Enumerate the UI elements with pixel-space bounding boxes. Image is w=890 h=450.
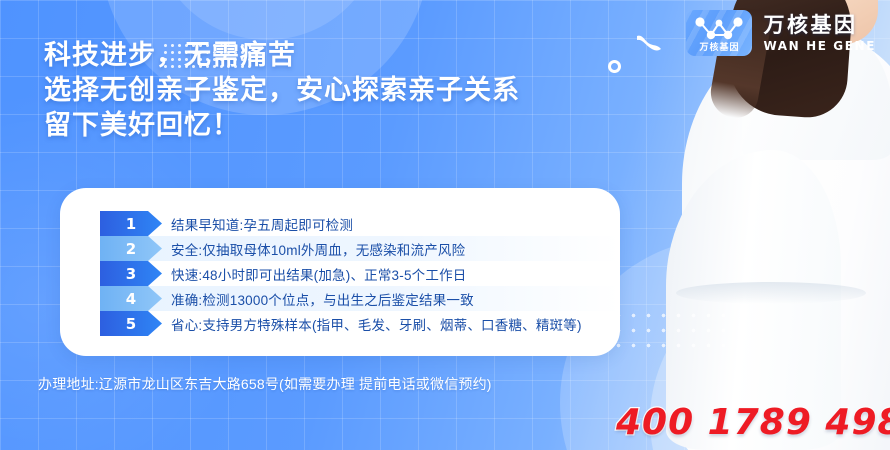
feature-text: 快速:48小时即可出结果(加急)、正常3-5个工作日 [171,264,466,284]
feature-text: 省心:支持男方特殊样本(指甲、毛发、牙刷、烟蒂、口香糖、精斑等) [171,314,582,334]
list-item: 1 结果早知道:孕五周起即可检测 [100,211,620,236]
headline-line-1-wrap: 科技进步，无需痛苦 [44,38,604,73]
pregnant-woman-photo [630,0,890,450]
promo-banner: 万核基因 万核基因 WAN HE GENE 科技进步，无需痛苦 选择无创亲子鉴定… [0,0,890,450]
feature-number-badge: 4 [100,286,162,311]
logo-mark-caption: 万核基因 [686,40,752,53]
feature-card: 1 结果早知道:孕五周起即可检测 2 安全:仅抽取母体10ml外周血，无感染和流… [60,188,620,356]
office-address: 办理地址:辽源市龙山区东吉大路658号(如需要办理 提前电话或微信预约) [38,374,492,394]
photo-waist-shadow [676,282,866,304]
circle-outline-icon [608,60,621,73]
list-item: 5 省心:支持男方特殊样本(指甲、毛发、牙刷、烟蒂、口香糖、精斑等) [100,311,620,336]
feature-number-badge: 5 [100,311,162,336]
swoosh-icon [636,33,662,53]
headline-line-1: 科技进步，无需痛苦 [44,38,296,73]
headline-line-3: 留下美好回忆！ [44,108,604,143]
list-item: 2 安全:仅抽取母体10ml外周血，无感染和流产风险 [100,236,620,261]
list-item: 3 快速:48小时即可出结果(加急)、正常3-5个工作日 [100,261,620,286]
feature-number-badge: 1 [100,211,162,236]
list-item: 4 准确:检测13000个位点，与出生之后鉴定结果一致 [100,286,620,311]
feature-number-badge: 3 [100,261,162,286]
molecule-icon: 万核基因 [686,10,752,56]
feature-text: 安全:仅抽取母体10ml外周血，无感染和流产风险 [171,239,465,259]
feature-list: 1 结果早知道:孕五周起即可检测 2 安全:仅抽取母体10ml外周血，无感染和流… [100,211,620,336]
hotline-phone-number[interactable]: 400 1789 498 [616,402,890,443]
feature-text: 结果早知道:孕五周起即可检测 [171,214,353,234]
feature-number-badge: 2 [100,236,162,261]
headline-line-2: 选择无创亲子鉴定，安心探索亲子关系 [44,73,604,108]
headline-block: 科技进步，无需痛苦 选择无创亲子鉴定，安心探索亲子关系 留下美好回忆！ [44,38,604,143]
brand-logo[interactable]: 万核基因 万核基因 WAN HE GENE [686,10,876,56]
feature-text: 准确:检测13000个位点，与出生之后鉴定结果一致 [171,289,474,309]
logo-name-en: WAN HE GENE [763,40,876,52]
logo-text-block: 万核基因 WAN HE GENE [763,15,876,52]
logo-name-cn: 万核基因 [763,15,876,36]
